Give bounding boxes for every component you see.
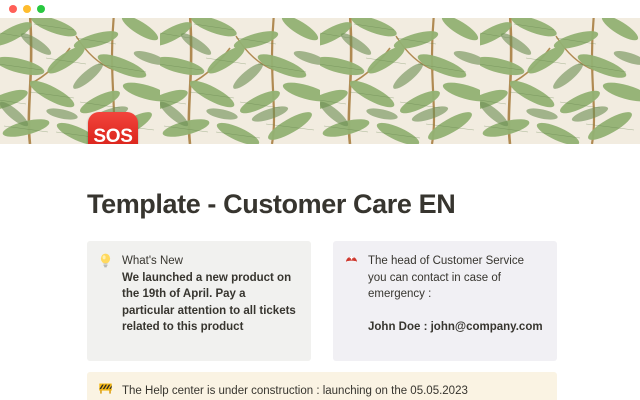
callout-line: What's New bbox=[122, 253, 297, 270]
banner-text: The Help center is under construction : … bbox=[122, 383, 468, 399]
callout-line: We launched a new product on the 19th of… bbox=[122, 270, 297, 336]
callout-line: John Doe : john@company.com bbox=[368, 319, 543, 336]
callout-line: The head of Customer Service you can con… bbox=[368, 253, 543, 303]
window-titlebar bbox=[0, 0, 640, 18]
page-title[interactable]: Template - Customer Care EN bbox=[87, 189, 455, 220]
callout-whats-new-body: What's New We launched a new product on … bbox=[122, 253, 297, 336]
minimize-window-button[interactable] bbox=[23, 5, 31, 13]
page-content: Template - Customer Care EN What's New W… bbox=[0, 144, 640, 400]
callout-emergency-contact[interactable]: The head of Customer Service you can con… bbox=[333, 241, 557, 361]
callout-row: What's New We launched a new product on … bbox=[87, 241, 557, 361]
light-bulb-icon bbox=[99, 253, 114, 268]
close-window-button[interactable] bbox=[9, 5, 17, 13]
maximize-window-button[interactable] bbox=[37, 5, 45, 13]
callout-spacer bbox=[368, 303, 543, 319]
callout-help-center-construction[interactable]: The Help center is under construction : … bbox=[87, 372, 557, 400]
app-window: SOS Template - Customer Care EN What's N… bbox=[0, 0, 640, 400]
rescue-worker-helmet-icon bbox=[345, 253, 360, 266]
callout-emergency-body: The head of Customer Service you can con… bbox=[368, 253, 543, 335]
callout-whats-new[interactable]: What's New We launched a new product on … bbox=[87, 241, 311, 361]
construction-icon bbox=[99, 383, 114, 394]
